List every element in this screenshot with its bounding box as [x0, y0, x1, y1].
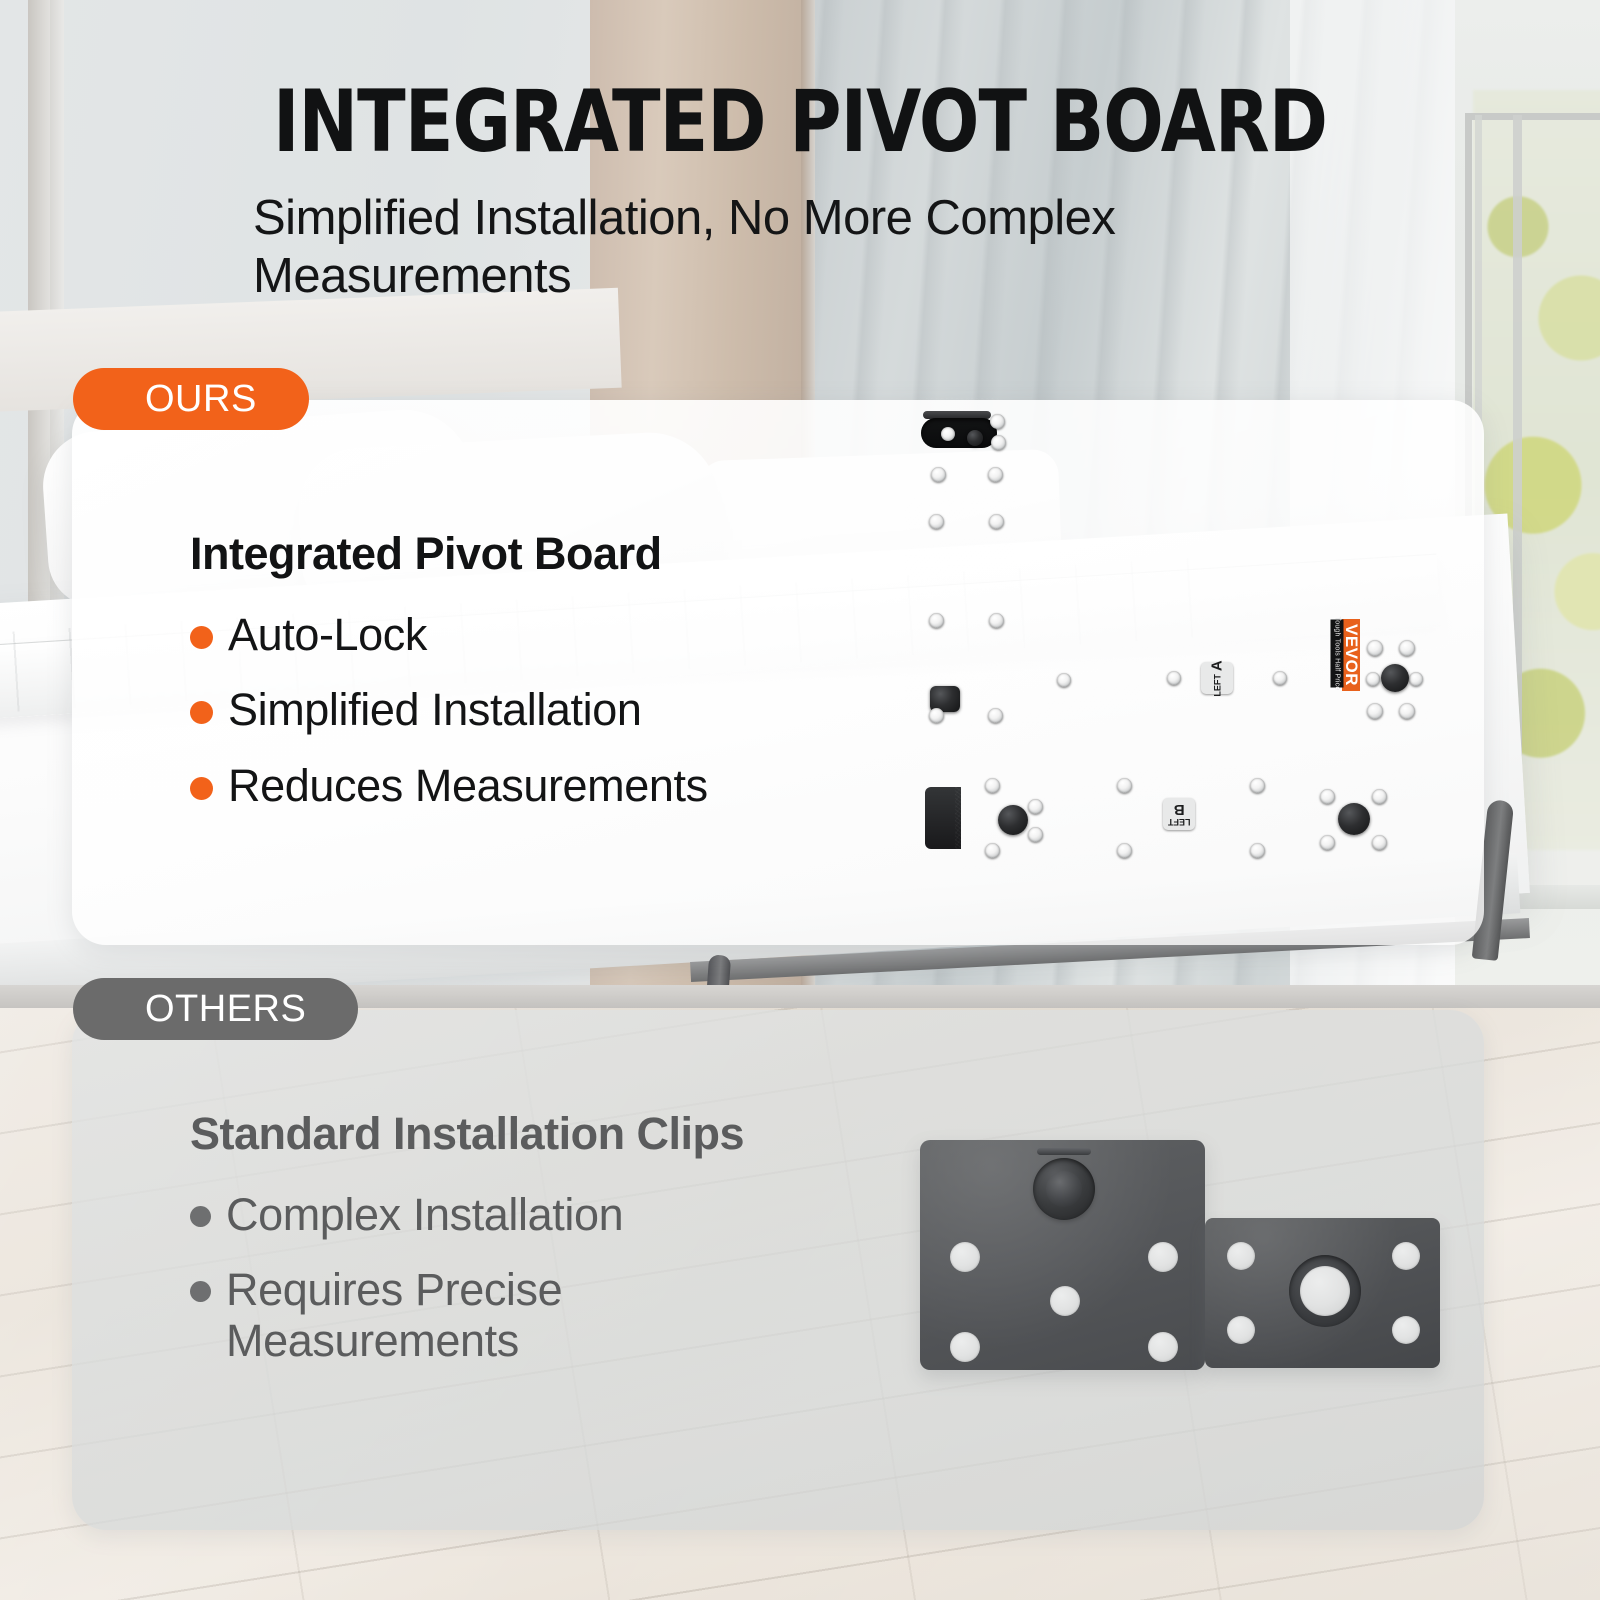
bracket-a-side-text: LEFT: [1212, 674, 1222, 697]
page-title: INTEGRATED PIVOT BOARD: [64, 72, 1536, 172]
mounting-hole: [1227, 1316, 1255, 1344]
mounting-hole: [1050, 1286, 1080, 1316]
mounting-hole: [1250, 778, 1265, 793]
list-item: Complex Installation: [190, 1190, 910, 1240]
list-item: Auto-Lock: [190, 610, 840, 660]
mounting-hole: [1372, 789, 1387, 804]
mounting-hole: [929, 708, 944, 723]
bracket-b-pivot-pin-left: [998, 805, 1028, 835]
mounting-hole: [985, 778, 1000, 793]
vevor-brand-text: VEVOR: [1341, 624, 1361, 686]
mounting-hole: [1320, 835, 1335, 850]
mounting-hole: [1273, 671, 1287, 685]
bracket-a-pivot-pin: [1381, 664, 1409, 692]
bullet-dot-icon: [190, 1281, 211, 1302]
bracket-a-hinge-slot: [921, 418, 997, 448]
others-bullet-list: Complex Installation Requires Precise Me…: [190, 1190, 910, 1366]
bullet-dot-icon: [190, 701, 213, 724]
mounting-hole: [1117, 778, 1132, 793]
bracket-b-id-sticker: LEFT B: [1163, 798, 1195, 830]
mounting-hole: [1372, 835, 1387, 850]
mounting-hole: [950, 1242, 980, 1272]
pivot-board-a-image: VEVOR Tough Tools Half Price LEFT A: [905, 398, 1435, 728]
ours-bullet-text: Reduces Measurements: [228, 761, 708, 811]
mounting-hole: [1148, 1242, 1178, 1272]
mounting-hole: [991, 435, 1006, 450]
vevor-tagline-label: Tough Tools Half Price: [1331, 620, 1344, 688]
ours-content: Integrated Pivot Board Auto-Lock Simplif…: [190, 528, 840, 836]
mounting-hole: [1366, 672, 1380, 686]
vevor-brand-label: VEVOR: [1342, 619, 1360, 691]
mounting-hole: [988, 708, 1003, 723]
mounting-hole: [1399, 703, 1415, 719]
list-item: Simplified Installation: [190, 685, 840, 735]
list-item: Requires Precise Measurements: [190, 1265, 630, 1366]
bracket-b-pivot-pin-right: [1338, 803, 1370, 835]
ours-bullet-list: Auto-Lock Simplified Installation Reduce…: [190, 610, 840, 811]
ours-heading: Integrated Pivot Board: [190, 528, 840, 580]
others-bullet-text: Complex Installation: [226, 1190, 623, 1240]
mounting-hole: [1117, 843, 1132, 858]
mounting-hole: [988, 467, 1003, 482]
mounting-hole: [929, 613, 944, 628]
page-subtitle: Simplified Installation, No More Complex…: [253, 190, 1353, 306]
mounting-hole: [990, 414, 1005, 429]
bracket-a-letter-text: A: [1209, 660, 1226, 671]
mounting-hole: [1409, 672, 1423, 686]
bullet-dot-icon: [190, 777, 213, 800]
standard-clip-square-plate: [920, 1140, 1205, 1370]
mounting-hole: [1057, 673, 1071, 687]
ours-bullet-text: Auto-Lock: [228, 610, 427, 660]
bracket-a-hinge-knob: [967, 430, 983, 446]
clip-center-hole: [1300, 1266, 1350, 1316]
others-bullet-text: Requires Precise Measurements: [226, 1265, 630, 1366]
mounting-hole: [989, 514, 1004, 529]
ours-badge-label: OURS: [145, 378, 257, 421]
mounting-hole: [1320, 789, 1335, 804]
bracket-b-side-text: LEFT: [1168, 817, 1191, 826]
clip-retainer: [1037, 1148, 1091, 1155]
mounting-hole: [1250, 843, 1265, 858]
others-badge-label: OTHERS: [145, 988, 306, 1031]
mounting-hole: [931, 467, 946, 482]
standard-clip-rect-plate: [1205, 1218, 1440, 1368]
mounting-hole: [1167, 671, 1181, 685]
bracket-a-id-sticker: LEFT A: [1201, 662, 1233, 694]
mounting-hole: [1399, 640, 1415, 656]
mounting-hole: [929, 514, 944, 529]
ours-badge: OURS: [73, 368, 309, 430]
mounting-hole: [1392, 1242, 1420, 1270]
mounting-hole: [1367, 703, 1383, 719]
vevor-tagline-text: Tough Tools Half Price: [1334, 617, 1341, 691]
pivot-board-b-image: LEFT B: [925, 765, 1425, 870]
bracket-b-letter-text: B: [1174, 802, 1185, 817]
others-content: Standard Installation Clips Complex Inst…: [190, 1108, 910, 1391]
mounting-hole: [1392, 1316, 1420, 1344]
bullet-dot-icon: [190, 626, 213, 649]
mounting-hole: [1227, 1242, 1255, 1270]
clip-pin-dome: [1046, 1171, 1082, 1207]
ours-bullet-text: Simplified Installation: [228, 685, 642, 735]
bullet-dot-icon: [190, 1206, 211, 1227]
others-heading: Standard Installation Clips: [190, 1108, 910, 1160]
mounting-hole: [985, 843, 1000, 858]
mounting-hole: [1028, 827, 1043, 842]
mounting-hole: [1028, 799, 1043, 814]
mounting-hole: [941, 427, 955, 441]
mounting-hole: [950, 1332, 980, 1362]
mounting-hole: [989, 613, 1004, 628]
mounting-hole: [1367, 640, 1383, 656]
mounting-hole: [1148, 1332, 1178, 1362]
others-badge: OTHERS: [73, 978, 358, 1040]
list-item: Reduces Measurements: [190, 761, 840, 811]
